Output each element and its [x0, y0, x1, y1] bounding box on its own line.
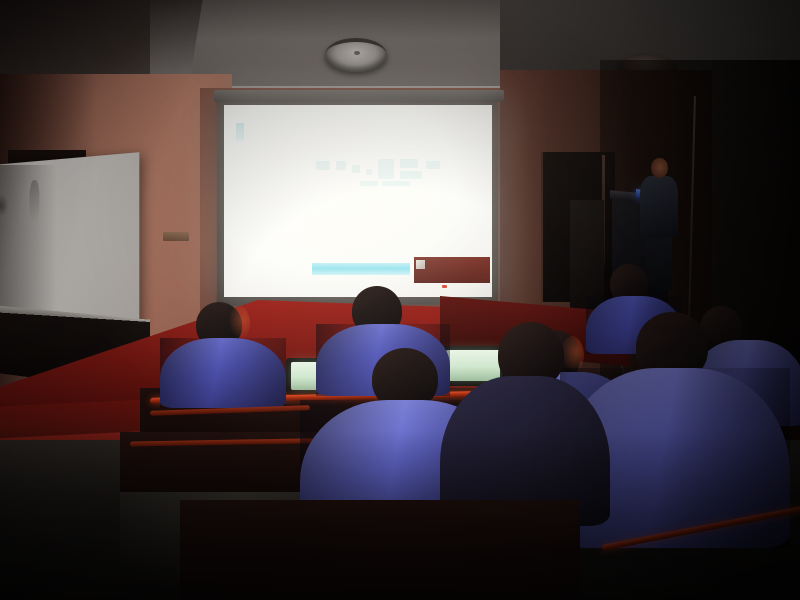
- attendee-torso-shading: [160, 338, 286, 408]
- presenter-body: [640, 176, 678, 238]
- loudspeaker: [570, 200, 604, 310]
- presenter-head: [651, 158, 668, 178]
- conference-room-photo: [0, 0, 800, 600]
- whiteboard-shadow: [0, 165, 56, 315]
- slide-info-indicator-icon: [442, 285, 447, 288]
- ceiling-light-icon: [325, 38, 387, 72]
- wall-outlet-icon: [163, 232, 189, 241]
- desk-row-3: [180, 500, 580, 600]
- slide-faint-content: [316, 159, 446, 189]
- attendee-head-rim-light: [228, 306, 250, 340]
- slide-caption-bar: [312, 263, 410, 275]
- projection-screen: [224, 105, 492, 297]
- ceiling-light-sensor-icon: [354, 51, 360, 55]
- projection-screen-roller: [214, 90, 504, 102]
- desk-monitor-2: [446, 350, 500, 381]
- presenter-legs: [646, 232, 672, 290]
- slide-info-box: [414, 257, 490, 283]
- slide-mark-icon: [236, 123, 244, 141]
- slide-info-thumbnail-icon: [416, 260, 425, 269]
